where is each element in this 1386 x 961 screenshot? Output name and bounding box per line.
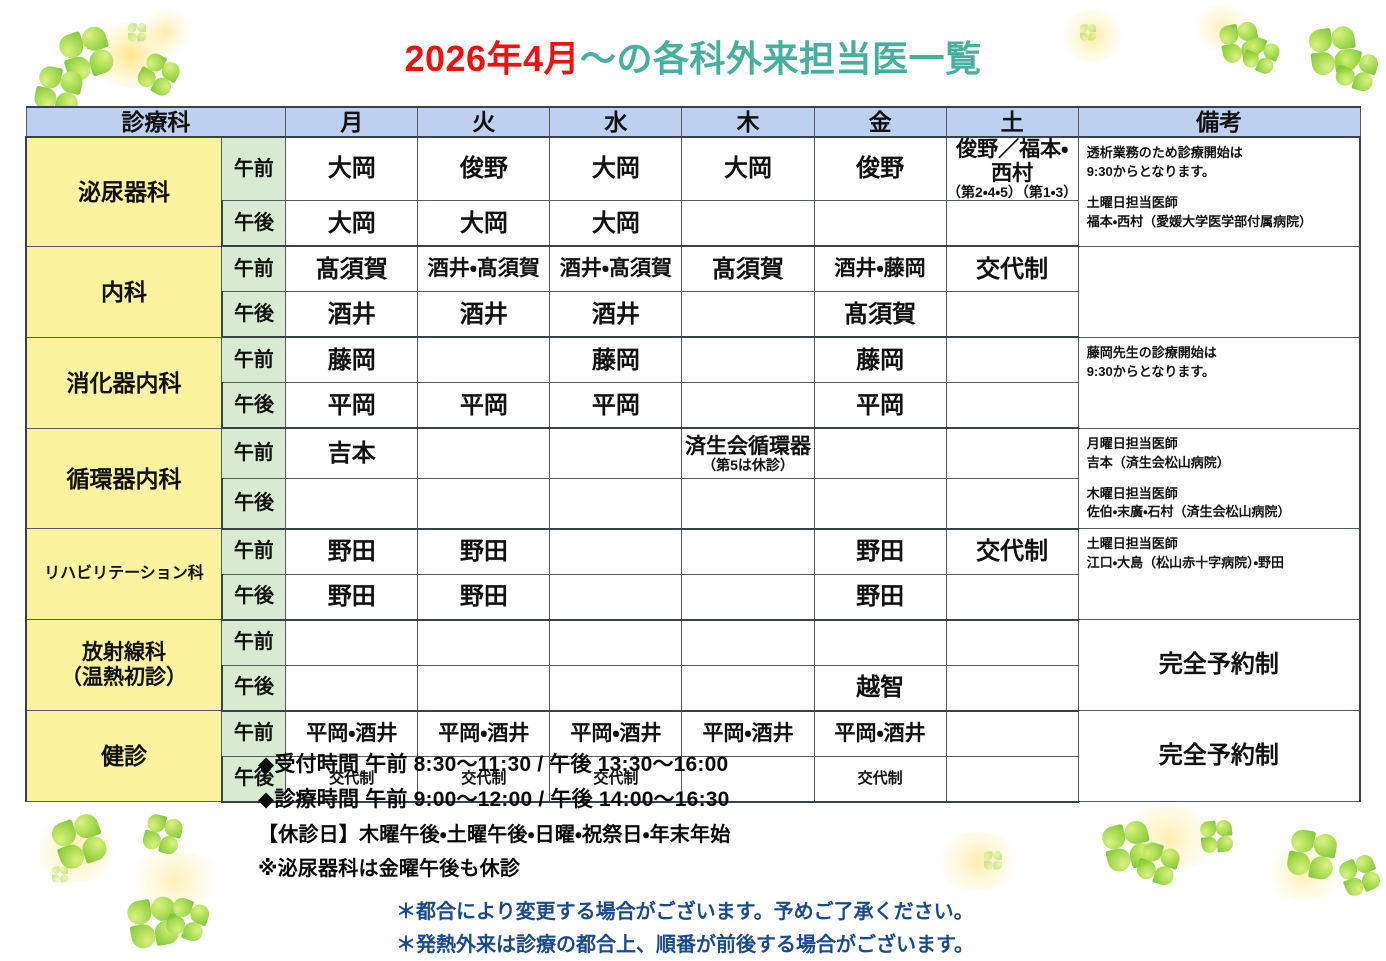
period-label-am: 午前 [222, 246, 286, 292]
schedule-cell [682, 292, 814, 338]
urology-closed-note: ※泌尿器科は金曜午後も休診 [0, 852, 1386, 881]
schedule-cell: 済生会循環器（第5は休診） [682, 428, 814, 478]
schedule-cell [946, 292, 1078, 338]
department-cell: 内科 [26, 246, 222, 337]
period-label-am: 午前 [222, 620, 286, 666]
change-notice: ＊都合により変更する場合がございます。予めご了承ください。 [0, 895, 1386, 924]
schedule-cell: 髙須賀 [682, 246, 814, 292]
schedule-cell [418, 428, 550, 478]
schedule-cell [946, 428, 1078, 478]
department-cell: 放射線科（温熱初診） [26, 620, 222, 711]
header-saturday: 土 [946, 107, 1078, 137]
table-header-row: 診療科 月 火 水 木 金 土 備考 [26, 107, 1360, 137]
department-cell: リハビリテーション科 [26, 529, 222, 620]
remarks-cell: 藤岡先生の診療開始は9:30からとなります。 [1078, 337, 1360, 428]
period-label-pm: 午後 [222, 292, 286, 338]
schedule-cell [550, 529, 682, 575]
schedule-cell [946, 620, 1078, 666]
schedule-cell [682, 529, 814, 575]
header-remarks: 備考 [1078, 107, 1360, 137]
schedule-cell: 大岡 [550, 137, 682, 201]
schedule-cell [418, 337, 550, 383]
footer-notes: ◆受付時間 午前 8:30〜11:30 / 午後 13:30〜16:00 ◆診療… [0, 748, 1386, 961]
schedule-cell: 俊野／福本・西村（第2・4・5）（第1・3） [946, 137, 1078, 201]
schedule-cell [682, 574, 814, 620]
schedule-cell: 俊野 [814, 137, 946, 201]
schedule-cell: 平岡 [550, 383, 682, 429]
period-label-pm: 午後 [222, 574, 286, 620]
schedule-cell [286, 665, 418, 711]
schedule-cell: 野田 [286, 574, 418, 620]
reception-hours: ◆受付時間 午前 8:30〜11:30 / 午後 13:30〜16:00 [0, 748, 1386, 778]
schedule-cell [550, 479, 682, 529]
schedule-cell [814, 201, 946, 247]
schedule-cell [946, 479, 1078, 529]
schedule-cell: 酒井 [418, 292, 550, 338]
schedule-cell: 吉本 [286, 428, 418, 478]
schedule-cell [814, 620, 946, 666]
remarks-cell: 土曜日担当医師江口・大島（松山赤十字病院）・野田 [1078, 529, 1360, 620]
schedule-cell [550, 428, 682, 478]
schedule-cell [286, 620, 418, 666]
period-label-pm: 午後 [222, 383, 286, 429]
schedule-cell [946, 665, 1078, 711]
schedule-cell: 酒井 [550, 292, 682, 338]
schedule-cell [682, 479, 814, 529]
title-subject: 〜の各科外来担当医一覧 [580, 38, 982, 79]
remarks-cell [1078, 246, 1360, 337]
remarks-cell: 月曜日担当医師吉本（済生会松山病院）木曜日担当医師佐伯・末廣・石村（済生会松山病… [1078, 428, 1360, 528]
schedule-cell: 藤岡 [286, 337, 418, 383]
table-row: 内科午前髙須賀酒井・髙須賀酒井・髙須賀髙須賀酒井・藤岡交代制 [26, 246, 1360, 292]
schedule-cell [814, 428, 946, 478]
header-monday: 月 [286, 107, 418, 137]
schedule-cell [682, 337, 814, 383]
schedule-cell: 大岡 [418, 201, 550, 247]
table-row: 消化器内科午前藤岡藤岡藤岡藤岡先生の診療開始は9:30からとなります。 [26, 337, 1360, 383]
department-cell: 消化器内科 [26, 337, 222, 428]
schedule-table-wrapper: 診療科 月 火 水 木 金 土 備考 泌尿器科午前大岡俊野大岡大岡俊野俊野／福本… [25, 106, 1361, 803]
schedule-cell: 平岡 [418, 383, 550, 429]
schedule-cell: 平岡 [286, 383, 418, 429]
remarks-cell: 透析業務のため診療開始は9:30からとなります。土曜日担当医師福本・西村（愛媛大… [1078, 137, 1360, 246]
schedule-cell [946, 383, 1078, 429]
schedule-cell: 藤岡 [814, 337, 946, 383]
header-thursday: 木 [682, 107, 814, 137]
page-title: 2026年4月〜の各科外来担当医一覧 [0, 30, 1386, 82]
header-wednesday: 水 [550, 107, 682, 137]
schedule-cell: 野田 [814, 529, 946, 575]
schedule-cell [418, 479, 550, 529]
period-label-pm: 午後 [222, 201, 286, 247]
schedule-cell: 平岡 [814, 383, 946, 429]
schedule-cell: 野田 [418, 574, 550, 620]
table-row: 放射線科（温熱初診）午前完全予約制 [26, 620, 1360, 666]
schedule-cell: 大岡 [682, 137, 814, 201]
schedule-cell: 酒井 [286, 292, 418, 338]
schedule-cell: 野田 [286, 529, 418, 575]
schedule-cell: 酒井・藤岡 [814, 246, 946, 292]
schedule-cell [682, 665, 814, 711]
schedule-cell: 髙須賀 [814, 292, 946, 338]
table-row: 循環器内科午前吉本済生会循環器（第5は休診）月曜日担当医師吉本（済生会松山病院）… [26, 428, 1360, 478]
schedule-cell [946, 574, 1078, 620]
schedule-cell [550, 665, 682, 711]
period-label-pm: 午後 [222, 665, 286, 711]
schedule-cell: 酒井・髙須賀 [418, 246, 550, 292]
schedule-cell: 俊野 [418, 137, 550, 201]
schedule-table: 診療科 月 火 水 木 金 土 備考 泌尿器科午前大岡俊野大岡大岡俊野俊野／福本… [25, 106, 1361, 803]
department-cell: 循環器内科 [26, 428, 222, 528]
consultation-hours: ◆診療時間 午前 9:00〜12:00 / 午後 14:00〜16:30 [0, 783, 1386, 813]
schedule-cell: 大岡 [286, 137, 418, 201]
schedule-table-body: 泌尿器科午前大岡俊野大岡大岡俊野俊野／福本・西村（第2・4・5）（第1・3）透析… [26, 137, 1360, 802]
schedule-cell: 大岡 [550, 201, 682, 247]
schedule-cell: 大岡 [286, 201, 418, 247]
schedule-cell [946, 201, 1078, 247]
schedule-cell: 酒井・髙須賀 [550, 246, 682, 292]
closed-days: 【休診日】木曜午後・土曜午後・日曜・祝祭日・年末年始 [0, 818, 1386, 847]
period-label-am: 午前 [222, 529, 286, 575]
schedule-cell [550, 620, 682, 666]
schedule-cell: 交代制 [946, 529, 1078, 575]
schedule-cell [682, 383, 814, 429]
schedule-cell [418, 620, 550, 666]
schedule-cell [682, 201, 814, 247]
title-period: 2026年4月 [404, 38, 580, 79]
schedule-cell: 藤岡 [550, 337, 682, 383]
table-row: 泌尿器科午前大岡俊野大岡大岡俊野俊野／福本・西村（第2・4・5）（第1・3）透析… [26, 137, 1360, 201]
header-friday: 金 [814, 107, 946, 137]
period-label-am: 午前 [222, 337, 286, 383]
period-label-pm: 午後 [222, 479, 286, 529]
table-row: リハビリテーション科午前野田野田野田交代制土曜日担当医師江口・大島（松山赤十字病… [26, 529, 1360, 575]
schedule-cell [682, 620, 814, 666]
schedule-cell [418, 665, 550, 711]
schedule-cell [814, 479, 946, 529]
schedule-cell: 野田 [418, 529, 550, 575]
schedule-cell [550, 574, 682, 620]
schedule-cell: 交代制 [946, 246, 1078, 292]
schedule-cell: 髙須賀 [286, 246, 418, 292]
schedule-cell [286, 479, 418, 529]
schedule-cell: 越智 [814, 665, 946, 711]
schedule-cell [946, 337, 1078, 383]
remarks-cell: 完全予約制 [1078, 620, 1360, 711]
period-label-am: 午前 [222, 428, 286, 478]
fever-clinic-notice: ＊発熱外来は診療の都合上、順番が前後する場合がございます。 [0, 928, 1386, 957]
period-label-am: 午前 [222, 137, 286, 201]
department-cell: 泌尿器科 [26, 137, 222, 246]
header-department: 診療科 [26, 107, 286, 137]
schedule-cell: 野田 [814, 574, 946, 620]
header-tuesday: 火 [418, 107, 550, 137]
